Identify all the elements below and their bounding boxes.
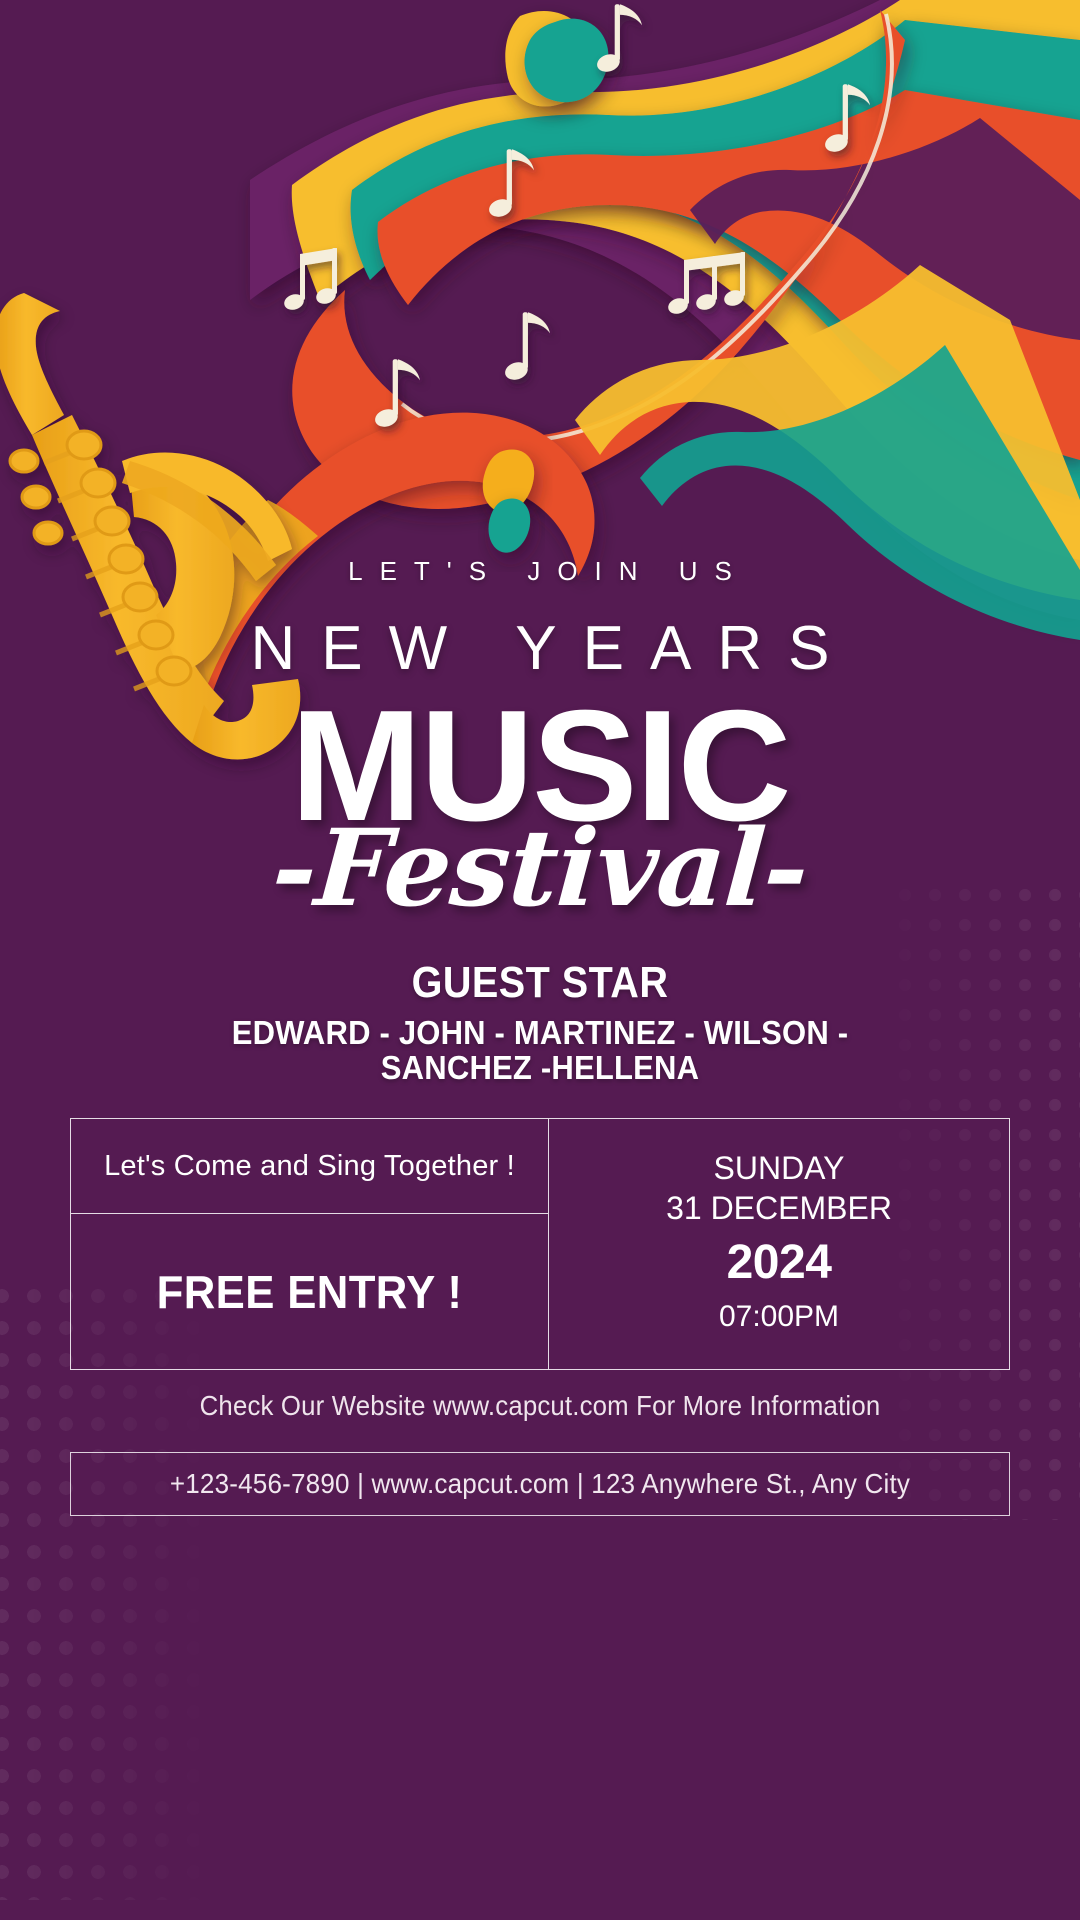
guest-names-line-1: EDWARD - JOHN - MARTINEZ - WILSON -	[136, 1016, 944, 1051]
free-entry-badge: FREE ENTRY !	[83, 1214, 536, 1369]
guest-names-list: EDWARD - JOHN - MARTINEZ - WILSON - SANC…	[136, 1016, 944, 1085]
guest-names-line-2: SANCHEZ -HELLENA	[136, 1051, 944, 1086]
kicker-text: LET'S JOIN US	[0, 556, 1080, 587]
event-day: SUNDAY	[714, 1149, 845, 1187]
contact-box: +123-456-7890 | www.capcut.com | 123 Any…	[70, 1452, 1010, 1516]
event-info-left-column: Let's Come and Sing Together ! FREE ENTR…	[71, 1119, 548, 1369]
contact-line: +123-456-7890 | www.capcut.com | 123 Any…	[170, 1468, 910, 1500]
event-date-column: SUNDAY 31 DECEMBER 2024 07:00PM	[548, 1119, 1009, 1369]
event-time: 07:00PM	[719, 1299, 839, 1335]
event-info-box: Let's Come and Sing Together ! FREE ENTR…	[70, 1118, 1010, 1370]
eyebrow-text: NEW YEARS	[0, 618, 1080, 680]
script-subtitle: -Festival-	[0, 810, 1080, 927]
poster-canvas: LET'S JOIN US NEW YEARS MUSIC -Festival-…	[0, 0, 1080, 1920]
event-date: 31 DECEMBER	[666, 1189, 892, 1227]
website-note: Check Our Website www.capcut.com For Mor…	[43, 1390, 1037, 1422]
guest-star-heading: GUEST STAR	[54, 958, 1026, 1008]
event-year: 2024	[727, 1233, 832, 1293]
slogan-text: Let's Come and Sing Together !	[71, 1119, 548, 1214]
